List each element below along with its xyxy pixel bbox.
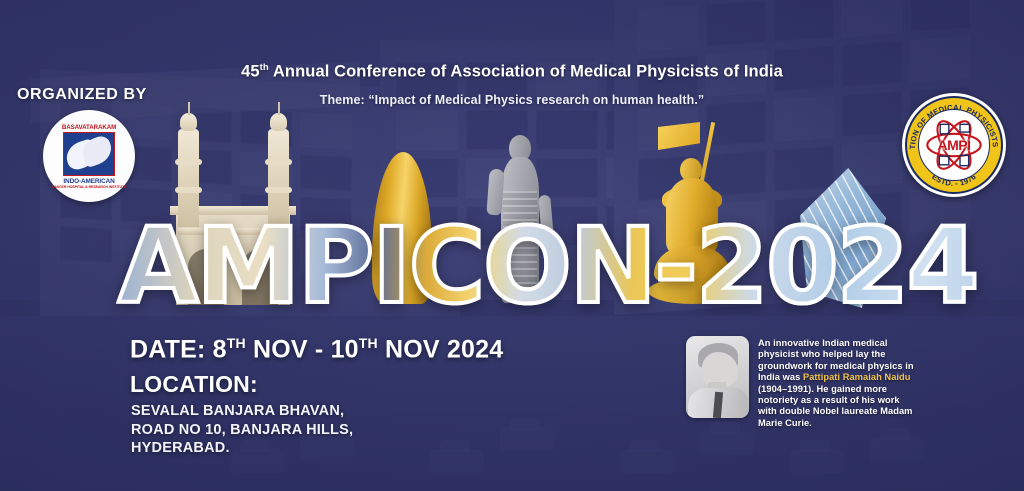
- date-ordinal-2: TH: [359, 335, 378, 351]
- address-line-3: HYDERABAD.: [131, 439, 353, 458]
- address-line-1: SEVALAL BANJARA BHAVAN,: [131, 402, 353, 421]
- conference-banner: 45th Annual Conference of Association of…: [0, 0, 1024, 491]
- location-address: SEVALAL BANJARA BHAVAN, ROAD NO 10, BANJ…: [131, 402, 353, 458]
- date-suffix: NOV 2024: [378, 335, 503, 363]
- logo-sub-text: CANCER HOSPITAL & RESEARCH INSTITUTE: [52, 185, 127, 189]
- ampi-center-text: AMPI: [938, 137, 971, 153]
- physicist-info-text: An innovative Indian medical physicist w…: [758, 336, 918, 432]
- event-date: DATE: 8TH NOV - 10TH NOV 2024: [130, 335, 503, 364]
- ampi-seal-logo: ASSOCIATION OF MEDICAL PHYSICISTS OF IND…: [902, 93, 1006, 197]
- organized-by-label: ORGANIZED BY: [17, 86, 147, 104]
- logo-top-text: BASAVATARAKAM: [62, 124, 116, 131]
- physicist-portrait: [686, 336, 749, 418]
- basavatarakam-logo: BASAVATARAKAM INDO-AMERICAN CANCER HOSPI…: [43, 110, 135, 202]
- location-label: LOCATION:: [130, 371, 258, 398]
- event-wordmark-text: AMPICON-2024: [118, 213, 977, 319]
- logo-mid-text: INDO-AMERICAN: [63, 178, 114, 185]
- conference-headline: 45th Annual Conference of Association of…: [0, 62, 1024, 82]
- physicist-name-highlight: Pattipati Ramaiah Naidu: [803, 372, 911, 382]
- address-line-2: ROAD NO 10, BANJARA HILLS,: [131, 421, 353, 440]
- headline-number: 45: [241, 63, 260, 81]
- event-wordmark: AMPICON-2024: [118, 213, 918, 319]
- info-text-after: (1904–1991). He gained more notoriety as…: [758, 384, 913, 428]
- logo-hands-emblem: [63, 132, 115, 176]
- conference-theme: Theme: “Impact of Medical Physics resear…: [0, 93, 1024, 107]
- physicist-info-card: An innovative Indian medical physicist w…: [686, 336, 918, 432]
- date-ordinal-1: TH: [227, 335, 246, 351]
- date-middle: NOV - 10: [246, 335, 359, 363]
- ampi-inner-disc: AMPI: [918, 109, 990, 181]
- headline-rest: Annual Conference of Association of Medi…: [269, 63, 783, 81]
- headline-ordinal-suffix: th: [260, 62, 269, 73]
- date-prefix: DATE: 8: [130, 335, 227, 363]
